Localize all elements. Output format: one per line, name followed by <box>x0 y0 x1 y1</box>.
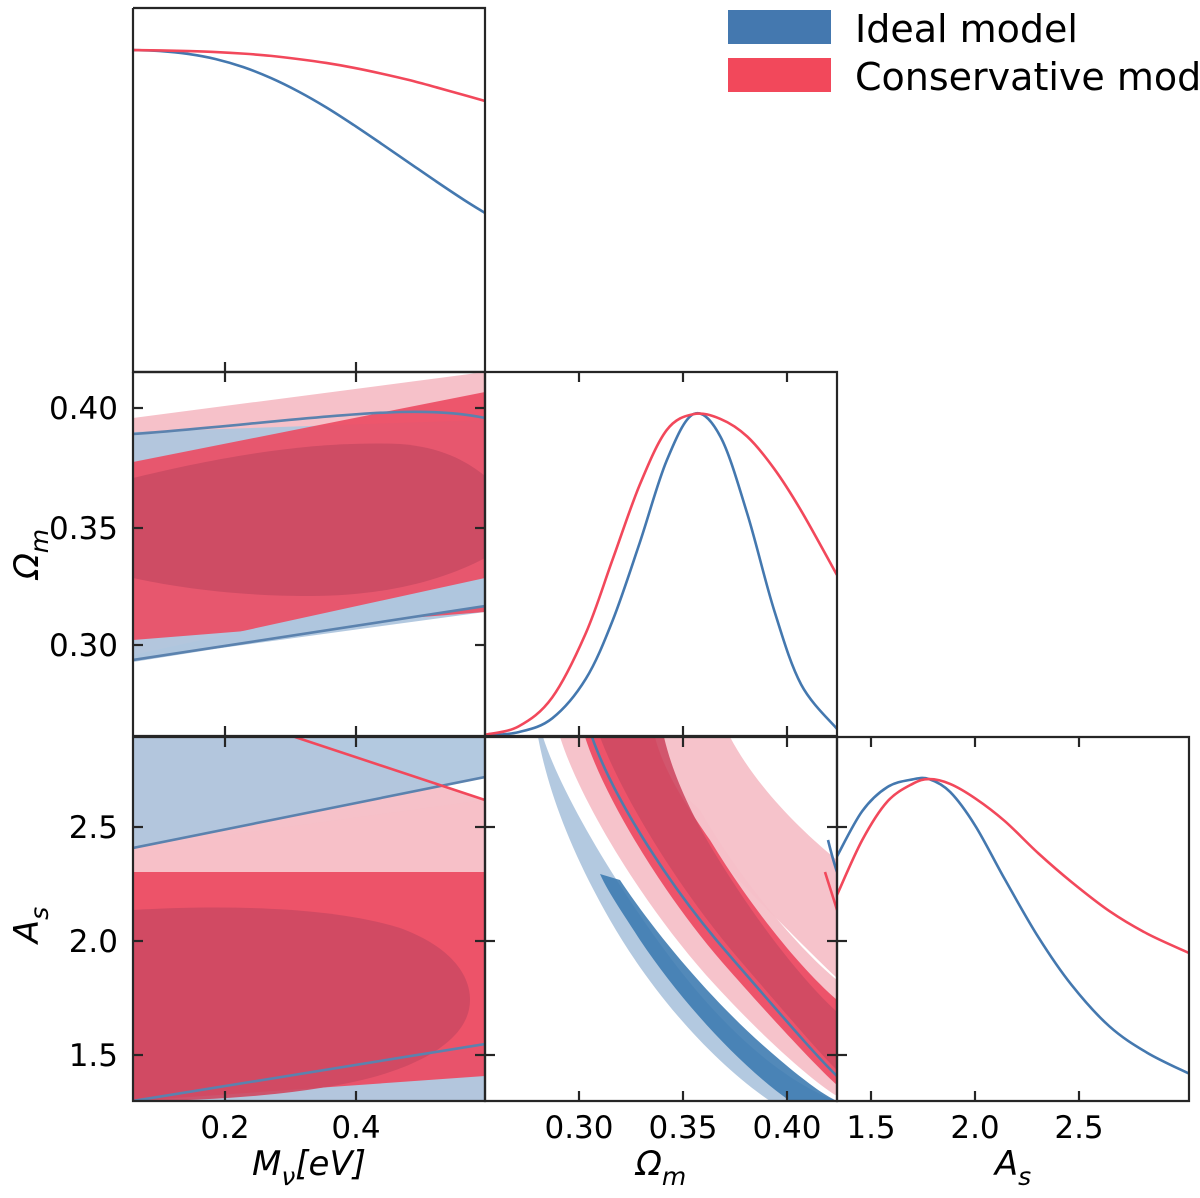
as-x-tick-label-25: 2.5 <box>1054 1110 1103 1146</box>
svg-text:Mν[eV]: Mν[eV] <box>252 1144 366 1191</box>
as-x-tick-label-20: 2.0 <box>950 1110 999 1146</box>
legend-swatch-conservative <box>728 58 831 92</box>
as-tick-label-25: 2.5 <box>69 810 118 846</box>
yaxis-label-om-sub: m <box>25 529 54 553</box>
legend-label-ideal: Ideal model <box>855 7 1078 51</box>
yaxis-label-as-sub: s <box>25 907 54 920</box>
figure-canvas: 0.40 0.35 0.30 Ωm <box>0 0 1200 1198</box>
om-tick-label-040: 0.40 <box>49 391 118 427</box>
om-tick-label-030: 0.30 <box>49 628 118 664</box>
mnu-om-cons-core <box>133 444 485 596</box>
yaxis-label-om-main: Ω <box>7 553 47 581</box>
xaxis-label-as-sub: s <box>1018 1162 1031 1191</box>
xaxis-label-mnu-group: Mν[eV] <box>252 1144 366 1191</box>
legend-swatch-ideal <box>728 10 831 44</box>
om-x-tick-label-030: 0.30 <box>544 1110 613 1146</box>
legend-label-conservative: Conservative model <box>855 55 1200 99</box>
xaxis-label-mnu-main: M <box>252 1144 281 1184</box>
as-tick-label-20: 2.0 <box>69 924 118 960</box>
mnu-tick-label-02: 0.2 <box>200 1110 249 1146</box>
xaxis-label-mnu-unit: [eV] <box>295 1144 366 1184</box>
xaxis-label-om-sub: m <box>662 1162 686 1191</box>
om-x-tick-label-040: 0.40 <box>752 1110 821 1146</box>
mnu-tick-label-04: 0.4 <box>331 1110 380 1146</box>
yaxis-label-as-main: A <box>7 920 47 945</box>
as-tick-label-15: 1.5 <box>69 1038 118 1074</box>
corner-plot-figure: 0.40 0.35 0.30 Ωm <box>0 0 1200 1198</box>
om-tick-label-035: 0.35 <box>49 511 118 547</box>
xaxis-label-as-main: A <box>993 1144 1018 1184</box>
xaxis-label-om-main: Ω <box>634 1144 662 1184</box>
om-x-tick-label-035: 0.35 <box>648 1110 717 1146</box>
xaxis-label-mnu-sub: ν <box>281 1162 295 1191</box>
as-x-tick-label-15: 1.5 <box>846 1110 895 1146</box>
